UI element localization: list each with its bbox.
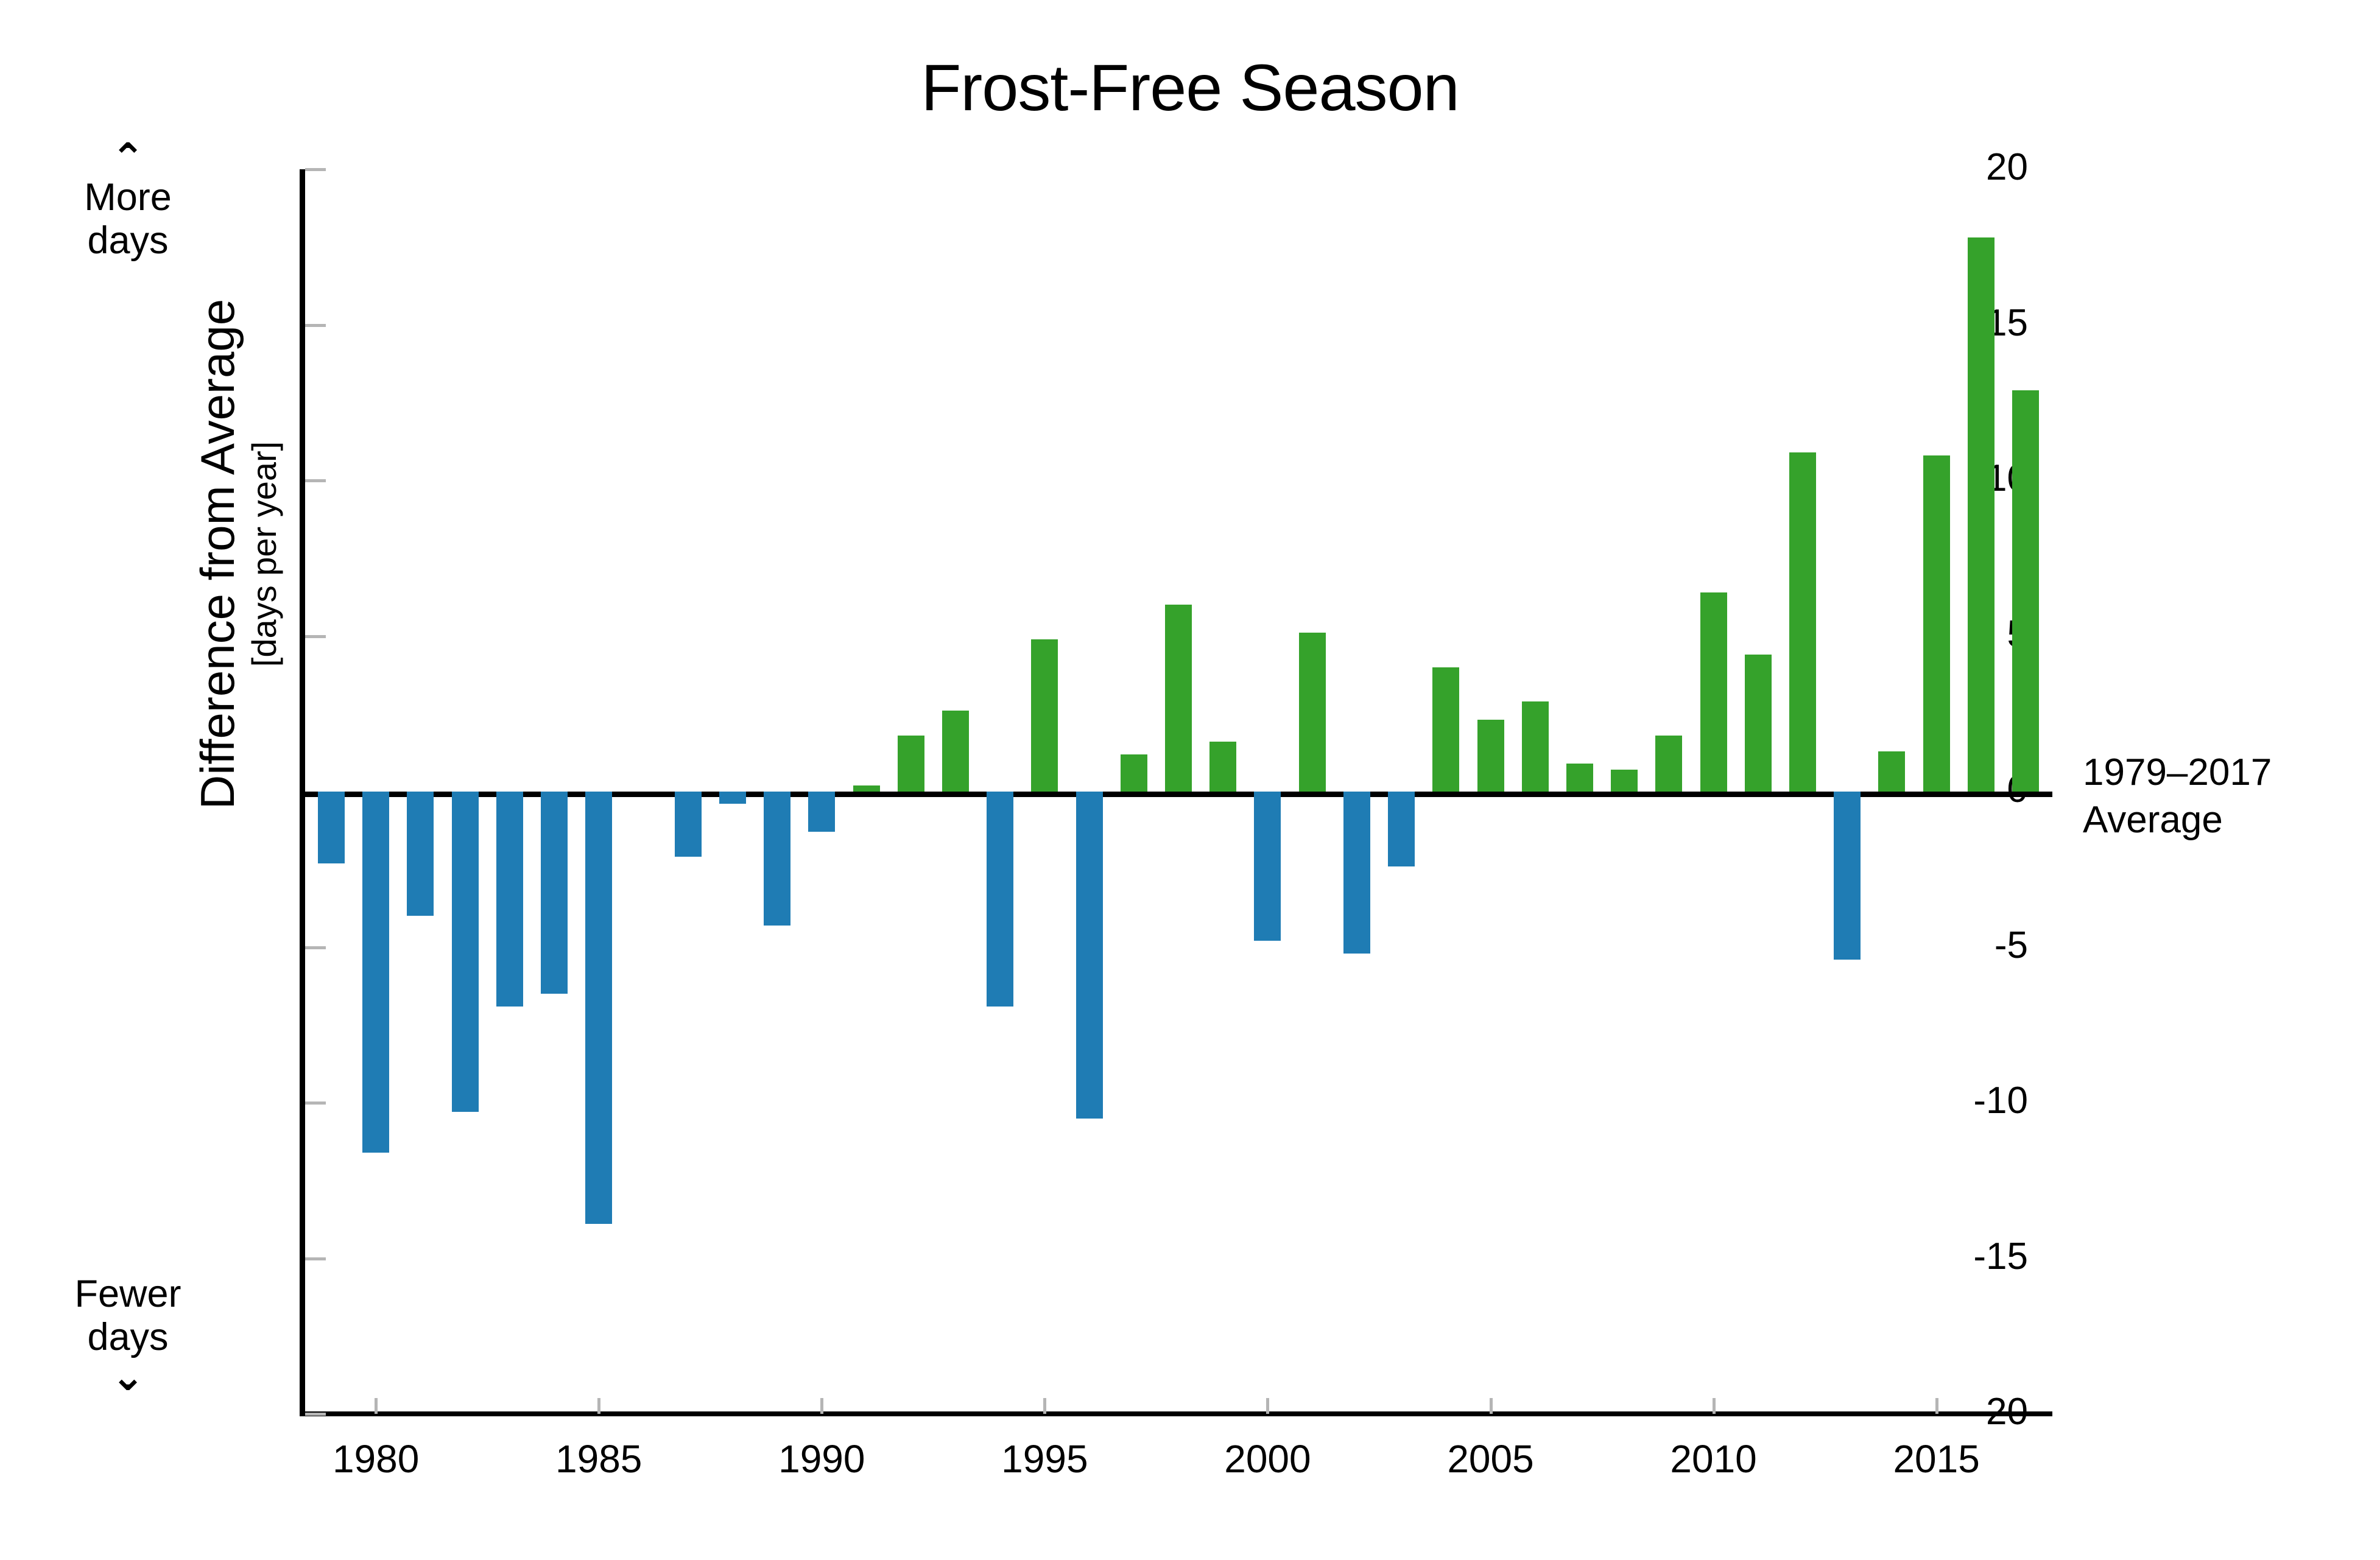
bar-1993 [942,711,969,792]
bar-2001 [1299,633,1326,792]
bar-2007 [1566,764,1593,792]
y-tick-mark [305,168,326,171]
x-tick-mark [1043,1398,1046,1414]
bar-2015 [1923,455,1950,792]
y-tick-label: 20 [1845,149,2028,186]
bar-1992 [898,736,924,792]
bar-1994 [987,792,1013,1007]
x-tick-label: 2000 [1170,1439,1365,1478]
bar-2008 [1611,770,1638,792]
bar-2009 [1655,736,1682,792]
more-days-line2: days [87,219,168,262]
bar-1990 [808,792,835,832]
baseline-word: Average [2083,796,2272,844]
bar-2006 [1522,701,1549,792]
plot-area: 20151050-5-10-15-20 19801985199019952000… [305,169,2052,1414]
y-axis-title: Difference from Average [193,299,243,809]
x-tick-mark [1490,1398,1493,1414]
y-tick-mark [305,635,326,638]
x-tick-label: 1980 [278,1439,473,1478]
y-axis-title-group: Difference from Average [days per year] [158,280,317,828]
bar-2012 [1789,452,1816,792]
baseline-annotation: 1979–2017 Average [2083,749,2272,843]
x-tick-mark [375,1398,378,1414]
bar-2004 [1432,667,1459,792]
x-tick-label: 2005 [1393,1439,1588,1478]
bar-1998 [1165,605,1192,792]
y-tick-label: -5 [1845,927,2028,964]
chevron-down-icon: ⌄ [37,1358,219,1394]
more-days-annotation: ⌃ More days [37,140,219,262]
y-tick-mark [305,324,326,327]
bar-1999 [1209,742,1236,792]
bar-1988 [719,792,746,804]
bar-2014 [1878,751,1905,792]
bar-1996 [1076,792,1103,1119]
baseline-period: 1979–2017 [2083,749,2272,796]
x-tick-mark [597,1398,600,1414]
fewer-days-annotation: Fewer days ⌄ [37,1273,219,1394]
bar-2005 [1477,720,1504,792]
bar-1987 [675,792,702,857]
fewer-days-line2: days [87,1316,168,1358]
fewer-days-line1: Fewer [74,1273,181,1315]
page-title: Frost-Free Season [0,55,2380,121]
bar-2010 [1700,592,1727,792]
y-tick-mark [305,479,326,482]
bar-1984 [541,792,568,994]
bar-2003 [1388,792,1415,866]
x-tick-mark [820,1398,823,1414]
bar-2013 [1834,792,1861,960]
bar-1979 [318,792,345,863]
x-axis-spine [300,1411,2052,1416]
y-tick-mark [305,1257,326,1260]
x-tick-label: 1985 [501,1439,696,1478]
y-tick-mark [305,946,326,949]
x-tick-mark [1266,1398,1269,1414]
bar-1997 [1121,754,1147,792]
bar-1980 [362,792,389,1153]
bar-1989 [764,792,790,926]
bar-1991 [853,785,880,792]
x-tick-label: 1990 [724,1439,919,1478]
y-tick-mark [305,1101,326,1105]
y-tick-label: -15 [1845,1238,2028,1276]
bar-1982 [452,792,479,1112]
bar-2002 [1343,792,1370,954]
bar-2011 [1745,655,1772,792]
bar-2000 [1254,792,1281,941]
more-days-line1: More [84,176,172,219]
x-tick-mark [1935,1398,1938,1414]
bar-1981 [407,792,434,916]
y-axis-units: [days per year] [247,441,283,667]
y-tick-label: -10 [1845,1082,2028,1120]
x-tick-label: 2015 [1839,1439,2034,1478]
bar-2016 [1968,237,1994,792]
bar-1985 [585,792,612,1224]
bar-1983 [496,792,523,1007]
bar-1995 [1031,639,1058,792]
x-tick-label: 1995 [947,1439,1142,1478]
chevron-up-icon: ⌃ [37,140,219,176]
y-tick-mark [305,1413,326,1416]
y-tick-label: 15 [1845,304,2028,342]
x-tick-mark [1713,1398,1716,1414]
bar-2017 [2012,390,2039,792]
x-tick-label: 2010 [1616,1439,1811,1478]
